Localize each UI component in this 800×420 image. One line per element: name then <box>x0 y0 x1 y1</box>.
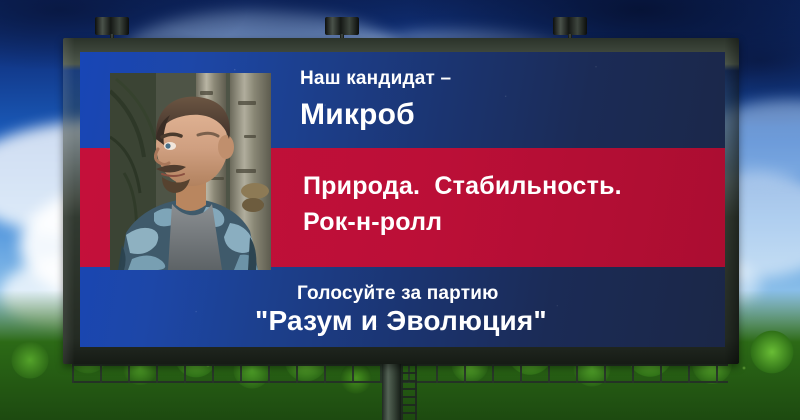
candidate-photo <box>110 73 271 270</box>
slogan-line-2: Рок-н-ролл <box>303 208 442 237</box>
maintenance-ladder <box>401 364 417 420</box>
lamp-shade <box>325 17 359 35</box>
slogan-line-1: Природа. Стабильность. <box>303 172 622 201</box>
call-to-action: Голосуйте за партию <box>297 283 499 305</box>
headline-label: Наш кандидат – <box>300 68 451 90</box>
lamp-shade <box>95 17 129 35</box>
party-name: "Разум и Эволюция" <box>255 305 547 337</box>
billboard-scene: Наш кандидат – Микроб Природа. Стабильно… <box>0 0 800 420</box>
candidate-name: Микроб <box>300 98 415 132</box>
lamp-shade <box>553 17 587 35</box>
